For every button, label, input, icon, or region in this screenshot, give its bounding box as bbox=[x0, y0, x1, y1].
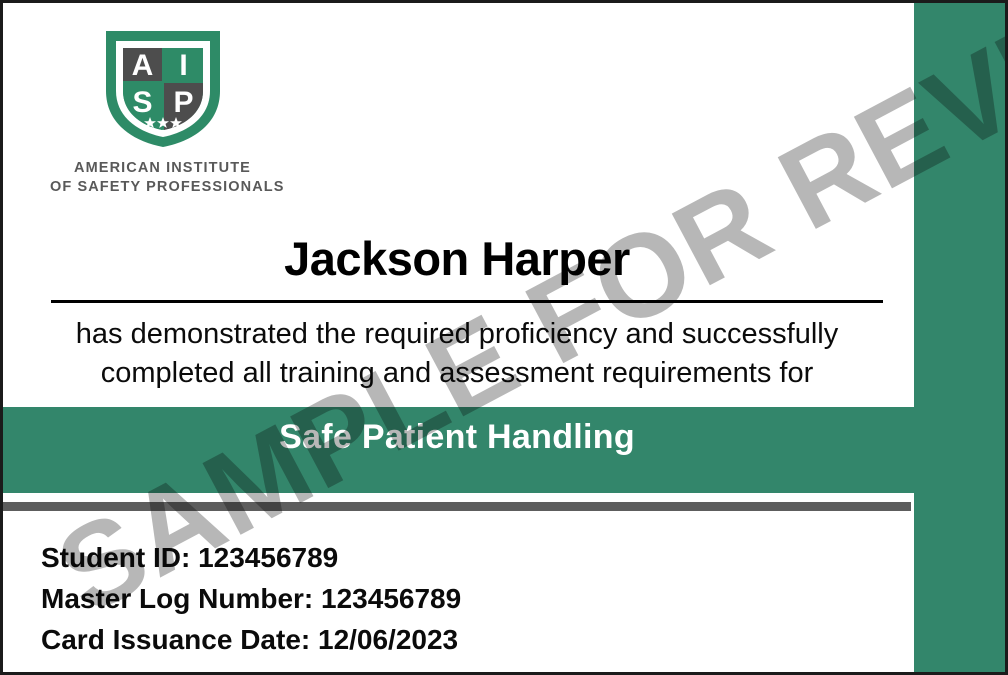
svg-text:I: I bbox=[179, 49, 187, 82]
detail-student-id: Student ID: 123456789 bbox=[41, 537, 461, 578]
name-underline bbox=[51, 300, 883, 303]
aisp-shield-icon: A I S P bbox=[50, 27, 275, 151]
organization-name: AMERICAN INSTITUTE OF SAFETY PROFESSIONA… bbox=[50, 159, 275, 197]
card-details: Student ID: 123456789 Master Log Number:… bbox=[41, 537, 461, 660]
svg-text:S: S bbox=[132, 86, 152, 119]
right-green-panel bbox=[914, 3, 1005, 672]
divider-white-gap bbox=[3, 493, 911, 502]
svg-text:P: P bbox=[173, 86, 193, 119]
organization-name-line-1: AMERICAN INSTITUTE bbox=[50, 159, 275, 178]
organization-logo: A I S P AMERICAN INSTITUTE OF SAFETY PRO… bbox=[50, 27, 275, 197]
detail-master-log-number: Master Log Number: 123456789 bbox=[41, 578, 461, 619]
recipient-name: Jackson Harper bbox=[3, 231, 911, 286]
svg-text:A: A bbox=[131, 49, 153, 82]
certification-card: A I S P AMERICAN INSTITUTE OF SAFETY PRO… bbox=[0, 0, 1008, 675]
detail-card-issuance-date: Card Issuance Date: 12/06/2023 bbox=[41, 619, 461, 660]
certification-statement: has demonstrated the required proficienc… bbox=[3, 315, 911, 393]
statement-line-1: has demonstrated the required proficienc… bbox=[3, 315, 911, 354]
statement-line-2: completed all training and assessment re… bbox=[3, 354, 911, 393]
organization-name-line-2: OF SAFETY PROFESSIONALS bbox=[50, 178, 275, 197]
course-title: Safe Patient Handling bbox=[3, 418, 911, 457]
divider-gray-bar bbox=[3, 502, 911, 511]
